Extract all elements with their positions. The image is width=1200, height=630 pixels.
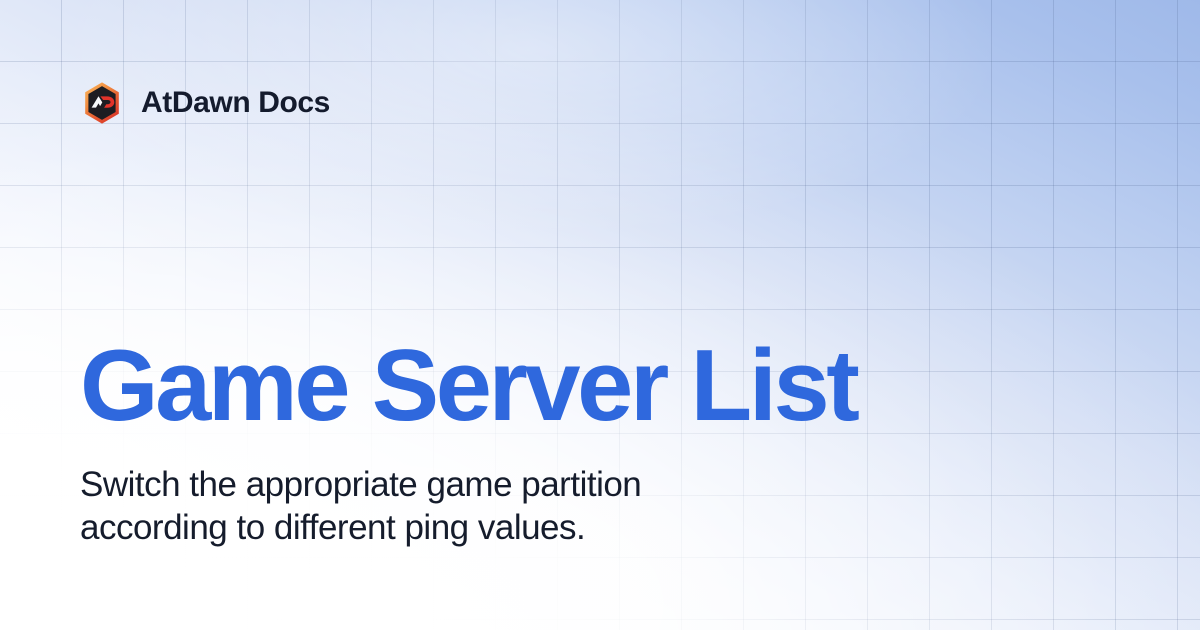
page-title: Game Server List	[80, 336, 1100, 437]
card-content: AtDawn Docs Game Server List Switch the …	[0, 0, 1200, 630]
hero-section: Game Server List Switch the appropriate …	[80, 336, 1100, 549]
page-subtitle: Switch the appropriate game partition ac…	[80, 463, 740, 549]
atdawn-hexagon-logo-icon	[80, 81, 124, 125]
og-card: AtDawn Docs Game Server List Switch the …	[0, 0, 1200, 630]
brand-name-label: AtDawn Docs	[141, 88, 330, 118]
brand-lockup[interactable]: AtDawn Docs	[80, 81, 330, 125]
